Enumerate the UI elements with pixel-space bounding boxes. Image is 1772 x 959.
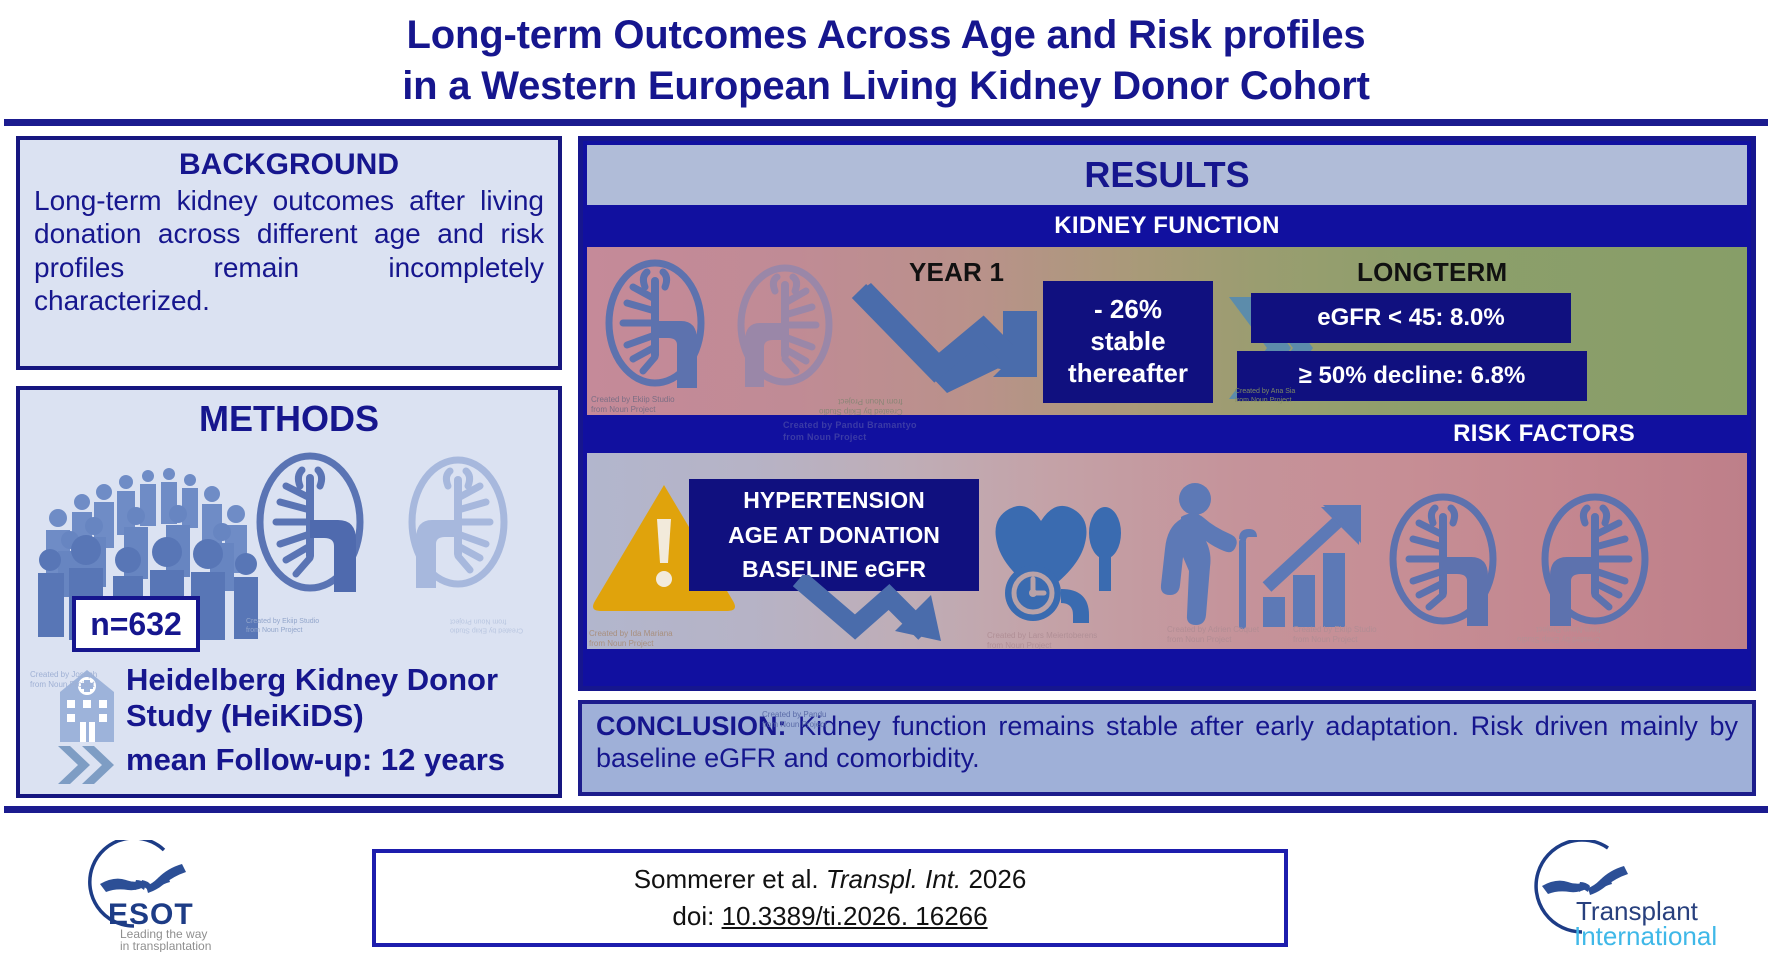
results-section: RESULTS KIDNEY FUNCTION YEAR 1 xyxy=(578,136,1756,691)
doi-value[interactable]: 10.3389/ti.2026. 16266 xyxy=(722,901,988,931)
citation-line-2: doi: 10.3389/ti.2026. 16266 xyxy=(672,901,987,932)
methods-heading: METHODS xyxy=(20,398,558,440)
title-line-1: Long-term Outcomes Across Age and Risk p… xyxy=(407,13,1366,58)
citation-authors: Sommerer et al. xyxy=(634,864,819,894)
page-title: Long-term Outcomes Across Age and Risk p… xyxy=(0,0,1772,122)
elderly-person-icon xyxy=(1153,481,1273,631)
longterm-label: LONGTERM xyxy=(1357,257,1507,288)
citation-line-1: Sommerer et al. Transpl. Int. 2026 xyxy=(634,864,1027,895)
decline-arrow-icon xyxy=(851,281,1047,407)
kidney-icon xyxy=(1385,489,1521,647)
esot-logo: ESOT Leading the way in transplantation xyxy=(64,840,264,952)
egfr-decline-box: - 26% stable thereafter xyxy=(1043,281,1213,403)
citation-year: 2026 xyxy=(968,864,1026,894)
sample-size-badge: n=632 xyxy=(72,596,200,652)
risk-factors-band-label: RISK FACTORS xyxy=(1453,420,1635,448)
citation-journal: Transpl. Int. xyxy=(826,864,961,894)
decline-line-3: thereafter xyxy=(1068,358,1188,390)
background-text: Long-term kidney outcomes after living d… xyxy=(34,184,544,318)
risk-factor-1: HYPERTENSION xyxy=(743,483,924,518)
credit-kidney-b: Created by Ekiip Studio from Noun Projec… xyxy=(450,616,523,634)
ti-logo-mark: Transplant International xyxy=(1524,840,1744,952)
growth-chart-icon xyxy=(1259,501,1379,627)
methods-section: METHODS xyxy=(16,386,562,798)
kidney-icon xyxy=(252,448,384,618)
credit-hospital: Created by Joseph from Noun Project xyxy=(30,670,97,691)
heart-blood-pressure-icon xyxy=(985,489,1141,623)
ti-logo-line-2: International xyxy=(1574,921,1717,951)
risk-factors-panel: Created by Ida Mariana from Noun Project… xyxy=(587,453,1747,649)
credit-band-risk: Created by Pandu Bramantyo from Noun Pro… xyxy=(783,419,917,443)
divider-bottom xyxy=(4,806,1768,813)
kidney-icon xyxy=(601,255,725,411)
risk-factor-2: AGE AT DONATION xyxy=(728,518,940,553)
kidney-function-band-label: KIDNEY FUNCTION xyxy=(1054,212,1279,240)
decline-line-2: stable xyxy=(1090,326,1165,358)
conclusion-section: Created by Pandu from Noun Project CONCL… xyxy=(578,700,1756,796)
credit-kidney-a: Created by Ekiip Studio from Noun Projec… xyxy=(246,618,319,636)
credit-elderly: Created by Adrien Coquet from Noun Proje… xyxy=(1167,625,1259,646)
credit-kidney-2: Created by Ekiip Studio from Noun Projec… xyxy=(1517,623,1601,644)
doi-label: doi: xyxy=(672,901,714,931)
kidney-function-panel: YEAR 1 - 26% stable thereafter LONGTERM … xyxy=(587,247,1747,415)
credit-warning: Created by Ida Mariana from Noun Project xyxy=(589,629,673,649)
credit-heart: Created by Lars Meiertoberens from Noun … xyxy=(987,631,1097,649)
decline-arrow-icon xyxy=(793,575,953,649)
credit-chevron: Created by Ana Sia from Noun Project xyxy=(1235,387,1295,405)
background-heading: BACKGROUND xyxy=(34,148,544,182)
citation-box: Sommerer et al. Transpl. Int. 2026 doi: … xyxy=(372,849,1288,947)
conclusion-label: CONCLUSION: xyxy=(596,711,787,741)
background-section: BACKGROUND Long-term kidney outcomes aft… xyxy=(16,136,562,370)
egfr-45-result-box: eGFR < 45: 8.0% xyxy=(1251,293,1571,343)
divider-top xyxy=(4,119,1768,126)
transplant-international-logo: Transplant International xyxy=(1524,840,1744,952)
esot-tagline-line-2: in transplantation xyxy=(120,939,211,952)
credit-kidney-1: Created by Ekiip Studio from Noun Projec… xyxy=(1293,625,1377,646)
results-heading: RESULTS xyxy=(587,145,1747,205)
credit-kidney-left: Created by Ekiip Studio from Noun Projec… xyxy=(591,395,675,415)
title-line-2: in a Western European Living Kidney Dono… xyxy=(402,64,1370,109)
study-name: Heidelberg Kidney Donor Study (HeiKiDS) xyxy=(126,662,556,734)
decline-line-1: - 26% xyxy=(1094,294,1162,326)
credit-conclusion: Created by Pandu from Noun Project xyxy=(762,710,827,731)
kidney-icon-secondary xyxy=(721,261,837,409)
kidney-icon-secondary xyxy=(392,452,512,612)
risk-factors-band: Created by Pandu Bramantyo from Noun Pro… xyxy=(587,415,1747,453)
kidney-function-band: KIDNEY FUNCTION xyxy=(587,205,1747,247)
credit-kidney-right: Created by Ekiip Studio from Noun Projec… xyxy=(819,395,903,415)
double-chevron-icon xyxy=(56,742,118,788)
followup-text: mean Follow-up: 12 years xyxy=(126,742,556,778)
esot-logo-mark: ESOT Leading the way in transplantation xyxy=(64,840,264,952)
